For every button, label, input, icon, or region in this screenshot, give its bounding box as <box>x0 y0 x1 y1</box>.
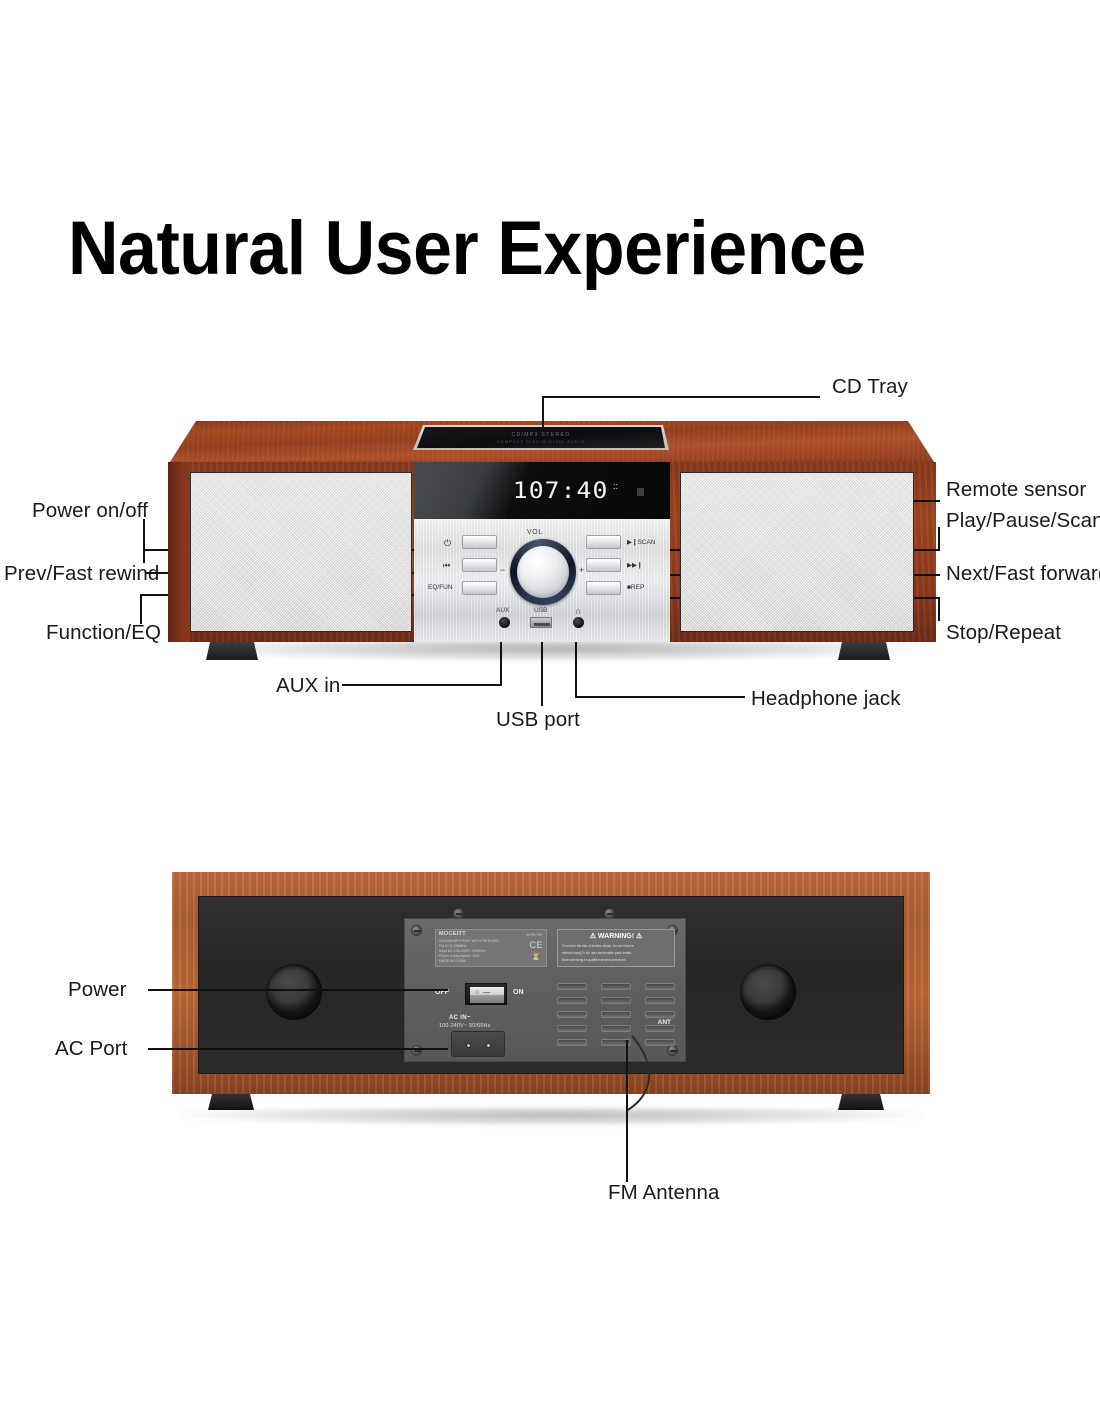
bass-reflex-port-right <box>740 964 796 1020</box>
vent-slot <box>645 983 675 990</box>
cabinet-foot-right <box>838 642 890 660</box>
warning-line-1: To reduce the risk of electric shock, Do… <box>562 944 634 948</box>
warning-title: ⚠ WARNING! ⚠ <box>590 932 643 940</box>
speaker-grille-right <box>680 472 914 632</box>
screw-plate-bottom-left <box>411 1045 422 1056</box>
callout-power: Power <box>68 978 127 1002</box>
callout-fm-antenna: FM Antenna <box>608 1181 720 1205</box>
power-switch-rocker <box>470 987 504 1003</box>
product-diagram: Natural User Experience CD/MP3 STEREO CO… <box>0 0 1100 1422</box>
headphone-icon: ∩ <box>575 606 581 616</box>
volume-plus-marker: + <box>579 565 584 575</box>
callout-ac-port: AC Port <box>55 1037 127 1061</box>
vent-slot <box>601 983 631 990</box>
next-button[interactable] <box>586 558 621 572</box>
usb-label: USB <box>534 607 547 614</box>
display-indicator: :: <box>613 484 618 489</box>
spec-line-5: MADE IN CHINA <box>439 959 466 963</box>
vent-slot <box>557 1039 587 1046</box>
rear-drop-shadow <box>178 1108 923 1126</box>
leader-fm-antenna-v <box>626 1040 628 1182</box>
spec-line-4: Power Consumption 30W <box>439 954 480 958</box>
leader-ac-port-h <box>148 1048 448 1050</box>
volume-knob-face <box>517 546 569 598</box>
ac-in-rating: 100-240V~ 50/60Hz <box>439 1023 491 1029</box>
vent-slot <box>645 997 675 1004</box>
eq-function-label: EQ/FUN <box>428 584 453 591</box>
power-icon: ⏻ <box>444 538 451 549</box>
antenna-terminal-label: ANT <box>658 1019 671 1026</box>
specification-label: MOCEITT WTB-757 CD/USB/MP3 PLAY WITH FM … <box>435 929 547 967</box>
previous-icon: ⏮ <box>443 561 450 571</box>
stop-repeat-label: ■REP <box>627 584 644 591</box>
weee-bin-icon: ⏳ <box>531 952 541 961</box>
vent-slot <box>601 1011 631 1018</box>
next-icon: ▶▶❙ <box>627 561 642 569</box>
vent-slot <box>557 1025 587 1032</box>
switch-on-label: ON <box>513 989 524 996</box>
lcd-display: 107:40 :: <box>414 462 670 519</box>
speaker-grille-left <box>190 472 412 632</box>
cabinet-foot-left <box>206 642 258 660</box>
vent-slot <box>557 983 587 990</box>
warning-line-3: Refer servicing to qualified service per… <box>562 958 626 962</box>
display-value: 107:40 <box>512 479 608 504</box>
bass-reflex-port-left <box>266 964 322 1020</box>
power-button[interactable] <box>462 535 497 549</box>
headphone-jack[interactable] <box>573 617 584 628</box>
play-pause-scan-label: ▶❙SCAN <box>627 538 656 546</box>
warning-line-2: exterior back(Or No user serviceable par… <box>562 951 632 955</box>
control-panel: ⏻ ⏮ EQ/FUN VOL − + ▶❙SCAN ▶▶❙ <box>414 519 670 642</box>
cabinet-left-side <box>168 462 190 642</box>
ac-power-socket[interactable] <box>451 1031 505 1057</box>
play-pause-scan-button[interactable] <box>586 535 621 549</box>
power-switch[interactable] <box>465 983 507 1005</box>
rear-foot-left <box>208 1094 254 1110</box>
eq-function-button[interactable] <box>462 581 497 595</box>
spec-line-2: FM 87.5-108MHz <box>439 944 467 948</box>
usb-port[interactable] <box>530 617 552 628</box>
volume-label: VOL <box>527 529 543 536</box>
aux-in-jack[interactable] <box>499 617 510 628</box>
warning-label: ⚠ WARNING! ⚠ To reduce the risk of elect… <box>557 929 675 967</box>
control-column: 107:40 :: ⏻ ⏮ EQ/FUN VOL − + <box>414 462 670 642</box>
volume-knob[interactable] <box>510 539 576 605</box>
vent-slot <box>601 997 631 1004</box>
rear-view-figure: MOCEITT WTB-757 CD/USB/MP3 PLAY WITH FM … <box>0 0 1100 1422</box>
ac-in-title: AC IN~ <box>449 1015 471 1021</box>
spec-line-3: Input AC 100-240V~ 50/60Hz <box>439 949 486 953</box>
screw-plate-top-left <box>411 925 422 936</box>
fm-antenna-wire <box>620 1030 710 1110</box>
previous-button[interactable] <box>462 558 497 572</box>
vent-slot <box>645 1011 675 1018</box>
remote-sensor-window <box>637 488 644 496</box>
aux-label: AUX <box>496 607 509 614</box>
volume-minus-marker: − <box>500 565 505 575</box>
leader-rear-power-h <box>148 989 448 991</box>
brand-name: MOCEITT <box>439 931 466 937</box>
stop-repeat-button[interactable] <box>586 581 621 595</box>
rear-foot-right <box>838 1094 884 1110</box>
spec-line-1: CD/USB/MP3 PLAY WITH FM RADIO <box>439 939 499 943</box>
ce-mark-icon: CE <box>529 940 543 950</box>
vent-slot <box>557 1011 587 1018</box>
model-number: WTB-757 <box>526 932 543 937</box>
vent-slot <box>557 997 587 1004</box>
